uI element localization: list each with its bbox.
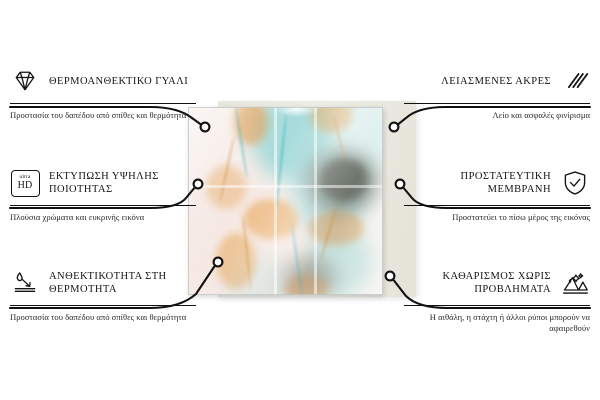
product-feature-infographic: ΘΕΡΜΟΑΝΘΕΚΤΙΚΟ ΓΥΑΛΙ Προστασία του δαπέδ… bbox=[0, 0, 600, 400]
polished-edges-icon bbox=[560, 66, 590, 96]
feature-header: ΠΡΟΣΤΑΤΕΥΤΙΚΗ ΜΕΜΒΡΑΝΗ bbox=[404, 166, 590, 200]
glass-edge bbox=[188, 107, 383, 295]
feature-header: ultra HD ΕΚΤΥΠΩΣΗ ΥΨΗΛΗΣ ΠΟΙΟΤΗΤΑΣ bbox=[10, 166, 196, 200]
product-image bbox=[180, 105, 420, 297]
feature-header: ΑΝΘΕΚΤΙΚΟΤΗΤΑ ΣΤΗ ΘΕΡΜΟΤΗΤΑ bbox=[10, 266, 196, 300]
feature-description: Προστασία του δαπέδου από σπίθες και θερ… bbox=[10, 110, 196, 121]
divider bbox=[404, 205, 590, 206]
feature-header: ΘΕΡΜΟΑΝΘΕΚΤΙΚΟ ΓΥΑΛΙ bbox=[10, 64, 196, 98]
shield-check-icon bbox=[560, 168, 590, 198]
divider bbox=[10, 103, 196, 104]
feature-polished-edges: ΛΕΙΑΣΜΕΝΕΣ ΑΚΡΕΣ Λείο και ασφαλές φινίρι… bbox=[404, 64, 590, 121]
feature-title: ΛΕΙΑΣΜΕΝΕΣ ΑΚΡΕΣ bbox=[441, 75, 551, 88]
feature-title: ΘΕΡΜΟΑΝΘΕΚΤΙΚΟ ΓΥΑΛΙ bbox=[49, 75, 188, 88]
feature-description: Πλούσια χρώματα και ευκρινής εικόνα bbox=[10, 212, 196, 223]
glass-panel bbox=[188, 107, 383, 295]
feature-description: Προστατεύει το πίσω μέρος της εικόνας bbox=[404, 212, 590, 223]
feature-description: Λείο και ασφαλές φινίρισμα bbox=[404, 110, 590, 121]
feature-title: ΚΑΘΑΡΙΣΜΟΣ ΧΩΡΙΣ ΠΡΟΒΛΗΜΑΤΑ bbox=[404, 270, 551, 296]
feature-title: ΠΡΟΣΤΑΤΕΥΤΙΚΗ ΜΕΜΒΡΑΝΗ bbox=[404, 170, 551, 196]
feature-heat-resistant-glass: ΘΕΡΜΟΑΝΘΕΚΤΙΚΟ ΓΥΑΛΙ Προστασία του δαπέδ… bbox=[10, 64, 196, 121]
feature-protective-membrane: ΠΡΟΣΤΑΤΕΥΤΙΚΗ ΜΕΜΒΡΑΝΗ Προστατεύει το πί… bbox=[404, 166, 590, 223]
feature-title: ΑΝΘΕΚΤΙΚΟΤΗΤΑ ΣΤΗ ΘΕΡΜΟΤΗΤΑ bbox=[49, 270, 196, 296]
feature-high-quality-print: ultra HD ΕΚΤΥΠΩΣΗ ΥΨΗΛΗΣ ΠΟΙΟΤΗΤΑΣ Πλούσ… bbox=[10, 166, 196, 223]
feature-description: Προστασία του δαπέδου από σπίθες και θερ… bbox=[10, 312, 196, 323]
feature-title: ΕΚΤΥΠΩΣΗ ΥΨΗΛΗΣ ΠΟΙΟΤΗΤΑΣ bbox=[49, 170, 196, 196]
heat-resistance-icon bbox=[10, 268, 40, 298]
divider bbox=[10, 305, 196, 306]
divider bbox=[404, 103, 590, 104]
divider bbox=[10, 205, 196, 206]
feature-header: ΚΑΘΑΡΙΣΜΟΣ ΧΩΡΙΣ ΠΡΟΒΛΗΜΑΤΑ bbox=[404, 266, 590, 300]
divider bbox=[404, 305, 590, 306]
ultra-hd-icon-bottom-label: HD bbox=[18, 181, 33, 191]
feature-easy-cleaning: ΚΑΘΑΡΙΣΜΟΣ ΧΩΡΙΣ ΠΡΟΒΛΗΜΑΤΑ Η αιθάλη, η … bbox=[404, 266, 590, 335]
feature-description: Η αιθάλη, η στάχτη ή άλλοι ρύποι μπορούν… bbox=[404, 312, 590, 335]
feature-heat-durability: ΑΝΘΕΚΤΙΚΟΤΗΤΑ ΣΤΗ ΘΕΡΜΟΤΗΤΑ Προστασία το… bbox=[10, 266, 196, 323]
ultra-hd-icon: ultra HD bbox=[10, 168, 40, 198]
feature-header: ΛΕΙΑΣΜΕΝΕΣ ΑΚΡΕΣ bbox=[404, 64, 590, 98]
easy-cleaning-icon bbox=[560, 268, 590, 298]
diamond-icon bbox=[10, 66, 40, 96]
